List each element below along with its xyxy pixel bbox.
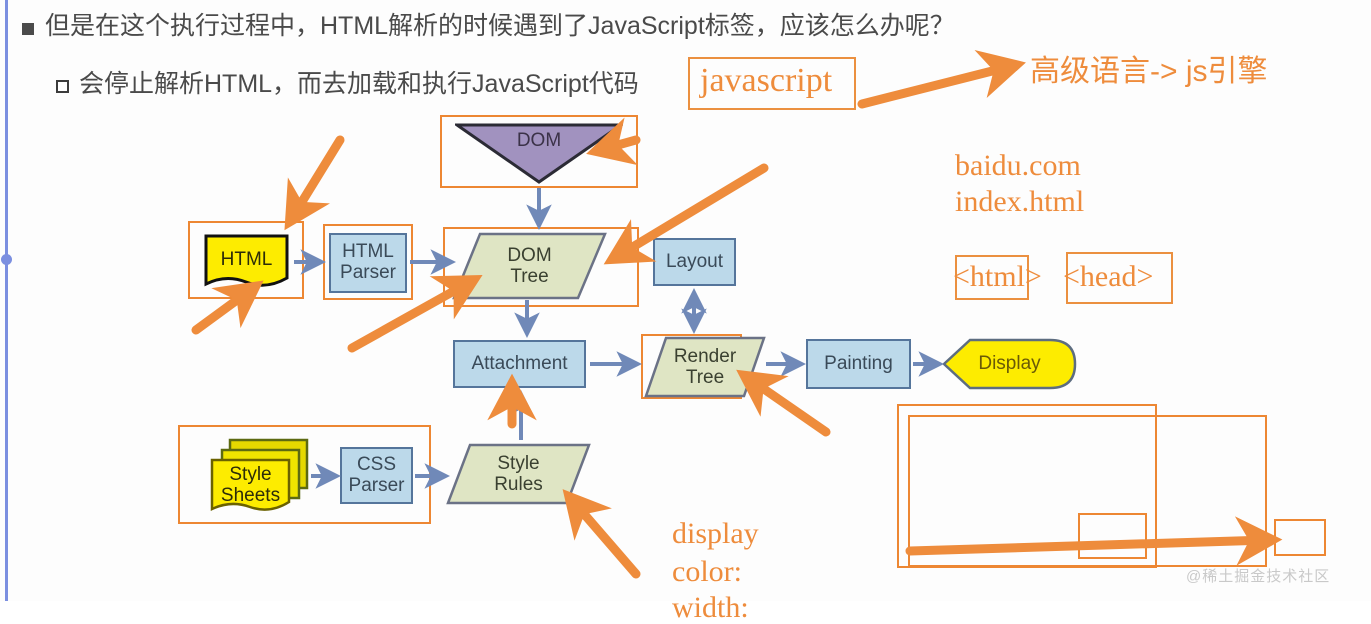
html-parser-node: HTML Parser — [329, 233, 407, 293]
html-parser-label-1: HTML — [342, 242, 394, 263]
frame-element-small-right — [1274, 519, 1326, 556]
css-parser-label-1: CSS — [357, 455, 396, 476]
css-parser-node: CSS Parser — [340, 447, 413, 504]
dom-triangle-node: DOM — [455, 122, 623, 184]
left-rail — [5, 0, 8, 601]
css-prop-line3: width: — [672, 592, 749, 624]
url-annotation-line1: baidu.com — [955, 150, 1081, 182]
square-bullet-icon — [22, 23, 34, 35]
slide-canvas: 但是在这个执行过程中，HTML解析的时候遇到了JavaScript标签，应该怎么… — [0, 0, 1371, 601]
style-rules-node: Style Rules — [446, 443, 591, 505]
bullet-2-text: 会停止解析HTML，而去加载和执行JavaScript代码 — [79, 70, 639, 99]
bullet-1-text: 但是在这个执行过程中，HTML解析的时候遇到了JavaScript标签，应该怎么… — [45, 12, 955, 41]
top-right-annotation: 高级语言-> js引擎 — [1030, 46, 1268, 90]
html-label: HTML — [221, 249, 273, 271]
style-rules-shape-icon — [446, 443, 591, 505]
dom-label: DOM — [455, 130, 623, 152]
dom-tree-shape-icon — [452, 232, 607, 300]
style-sheets-label-1: Style — [229, 464, 271, 485]
display-shape-icon — [942, 338, 1077, 390]
url-annotation-line2: index.html — [955, 186, 1084, 218]
style-sheets-label-group: Style Sheets — [212, 464, 289, 507]
painting-label: Painting — [824, 354, 893, 375]
display-node: Display — [942, 338, 1077, 390]
render-tree-node: Render Tree — [644, 336, 766, 398]
attachment-node: Attachment — [453, 340, 586, 388]
html-parser-label-2: Parser — [340, 263, 396, 284]
javascript-annotation-text: javascript — [700, 62, 832, 100]
style-sheets-label-2: Sheets — [221, 485, 280, 506]
watermark: @稀土掘金技术社区 — [1186, 565, 1330, 586]
head-tag-text: <head> — [1063, 260, 1153, 294]
html-document-node: HTML — [204, 234, 289, 286]
dom-tree-node: DOM Tree — [452, 232, 607, 300]
css-prop-line2: color: — [672, 556, 742, 588]
hollow-square-bullet-icon — [56, 80, 69, 93]
css-parser-label-2: Parser — [349, 476, 405, 497]
bullet-line-1: 但是在这个执行过程中，HTML解析的时候遇到了JavaScript标签，应该怎么… — [22, 12, 955, 41]
render-tree-shape-icon — [644, 336, 766, 398]
left-rail-dot — [1, 254, 12, 265]
attachment-label: Attachment — [471, 354, 567, 375]
style-sheets-node: Style Sheets — [208, 438, 308, 514]
layout-node: Layout — [653, 238, 736, 286]
frame-element-small-left — [1078, 513, 1147, 559]
css-prop-line1: display — [672, 518, 759, 550]
html-tag-text: <html> — [953, 260, 1042, 294]
layout-label: Layout — [666, 252, 723, 273]
painting-node: Painting — [806, 339, 911, 389]
bullet-line-2: 会停止解析HTML，而去加载和执行JavaScript代码 — [56, 70, 639, 99]
